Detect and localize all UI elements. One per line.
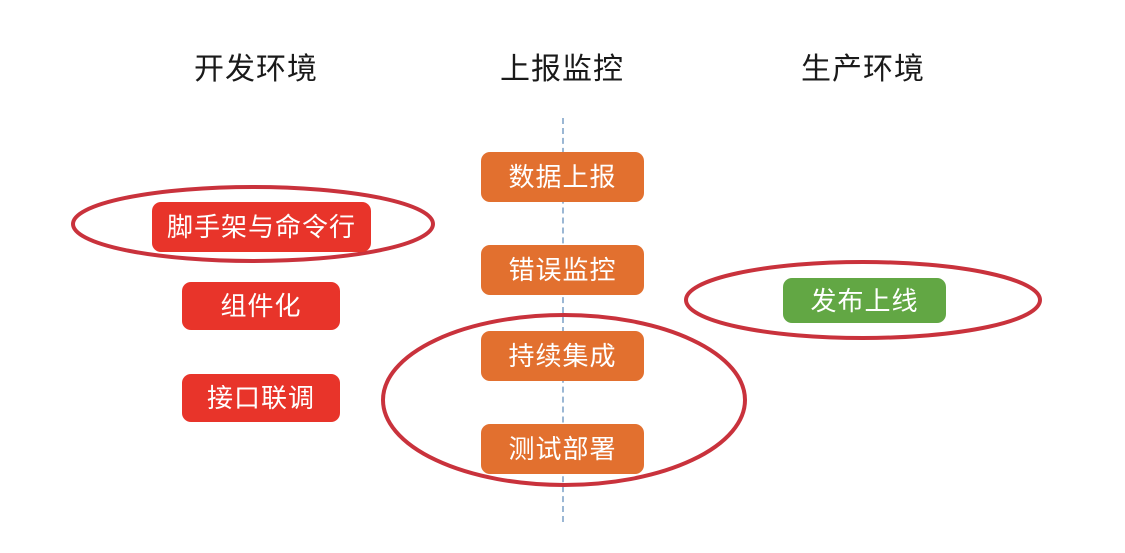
node-test-deployment[interactable]: 测试部署 xyxy=(481,424,644,474)
node-scaffold[interactable]: 脚手架与命令行 xyxy=(152,202,371,252)
node-data-reporting[interactable]: 数据上报 xyxy=(481,152,644,202)
node-error-monitoring[interactable]: 错误监控 xyxy=(481,245,644,295)
column-header-dev: 开发环境 xyxy=(194,55,318,85)
diagram-canvas: 开发环境 上报监控 生产环境 脚手架与命令行 组件化 接口联调 数据上报 错误监… xyxy=(0,0,1125,553)
node-release-launch[interactable]: 发布上线 xyxy=(783,278,946,323)
node-componentization[interactable]: 组件化 xyxy=(182,282,340,330)
column-header-production: 生产环境 xyxy=(801,55,925,85)
column-header-monitoring: 上报监控 xyxy=(500,55,624,85)
node-api-integration[interactable]: 接口联调 xyxy=(182,374,340,422)
node-continuous-integration[interactable]: 持续集成 xyxy=(481,331,644,381)
